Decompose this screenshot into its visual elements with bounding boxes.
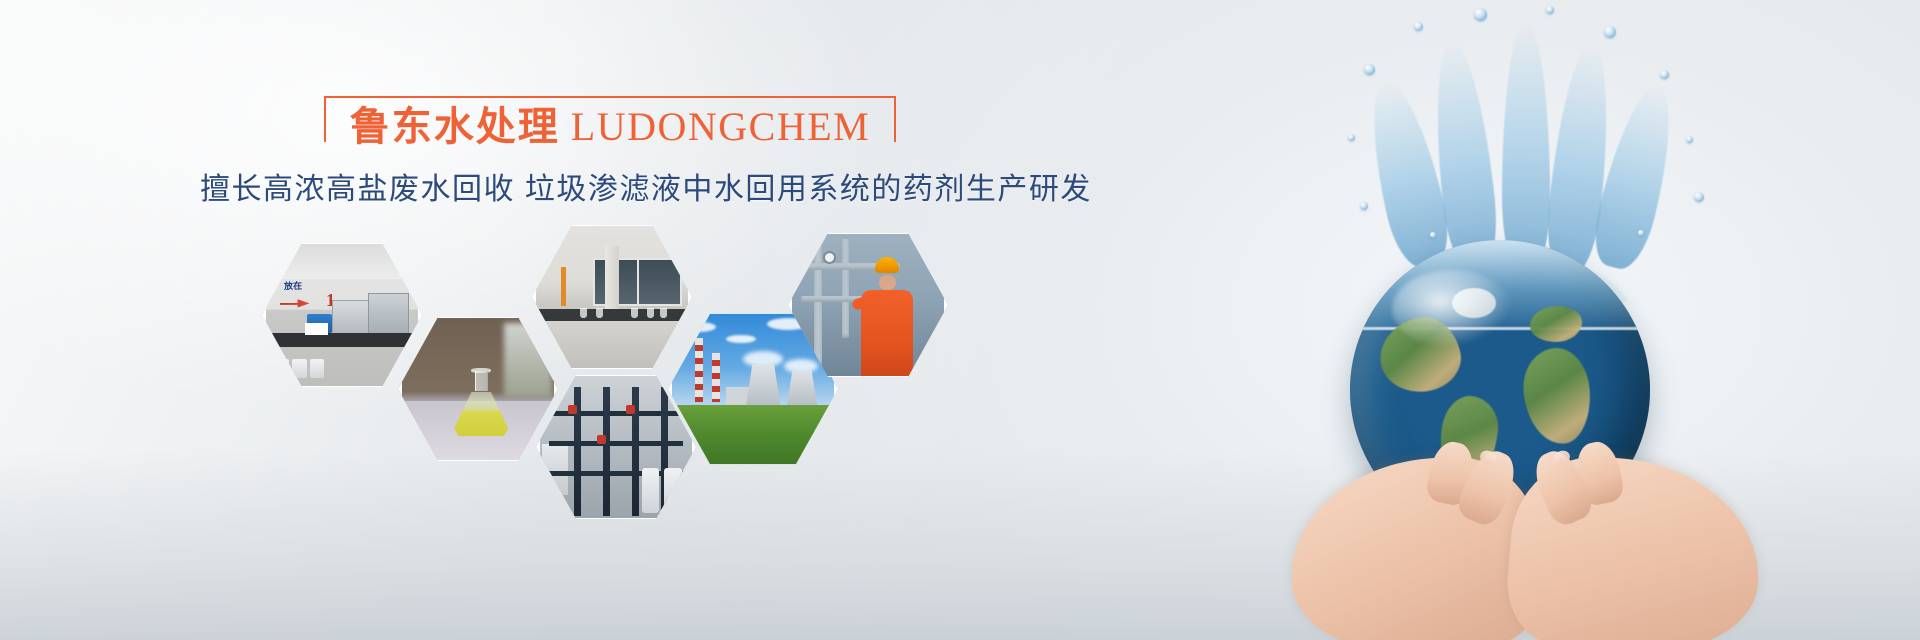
water-droplet (1348, 134, 1355, 141)
cloud (726, 335, 756, 343)
safety-helmet-icon (875, 257, 899, 273)
glassware (660, 308, 667, 318)
control-panel (542, 444, 568, 495)
glassware (580, 308, 587, 318)
hexagon-photo-lab-bench[interactable] (532, 222, 692, 372)
water-droplet (1686, 136, 1693, 143)
glassware (647, 308, 654, 318)
brand-title: 鲁东水处理 LUDONGCHEM (350, 102, 870, 152)
hands-water-globe-photo (1230, 0, 1920, 640)
banner-subtitle: 擅长高浓高盐废水回收 垃圾渗滤液中水回用系统的药剂生产研发 (200, 170, 1020, 211)
hex-bench-cabinet (532, 321, 692, 372)
water-droplet (1694, 192, 1704, 202)
globe-highlight (1392, 270, 1512, 348)
hero-banner: 鲁东水处理 LUDONGCHEM 擅长高浓高盐废水回收 垃圾渗滤液中水回用系统的… (0, 0, 1920, 640)
hex-lab-ceiling (262, 240, 422, 279)
hex-bench-stand (561, 267, 566, 306)
splash-sheet (1502, 22, 1550, 272)
hands-cupping-globe (1290, 360, 1760, 640)
glassware (596, 308, 603, 318)
flask-body-yellow-liquid (454, 392, 508, 436)
title-top-rule (342, 96, 878, 98)
valve-icon (626, 405, 635, 414)
chimney-stack (695, 338, 703, 401)
hexagon-photo-lab-slogan[interactable]: 放在 1 (262, 240, 422, 390)
hex-flask-window (504, 323, 552, 398)
worker-face (879, 275, 896, 290)
hex-lab-drum (275, 359, 289, 379)
water-droplet (1474, 8, 1487, 21)
glassware (631, 308, 638, 318)
plant-pipe (842, 239, 849, 338)
water-droplet (1638, 230, 1644, 236)
water-droplet (1360, 202, 1368, 210)
water-droplet (1604, 26, 1616, 38)
brand-title-frame: 鲁东水处理 LUDONGCHEM (324, 96, 896, 154)
hex-flask-scene (398, 314, 558, 464)
hex-bench-scene (532, 222, 692, 372)
hex-bench-top (532, 309, 692, 321)
water-droplet (1414, 22, 1423, 31)
hexagon-photo-cluster: 放在 1 (240, 222, 960, 522)
landmass-europe (1530, 306, 1582, 342)
headline-block: 鲁东水处理 LUDONGCHEM 擅长高浓高盐废水回收 垃圾渗滤液中水回用系统的… (200, 96, 1020, 211)
flask-neck (475, 371, 488, 391)
water-droplet (1430, 232, 1436, 238)
hex-lab-white-equipment (305, 323, 327, 335)
cloud (682, 322, 716, 332)
hex-lab-drum (310, 359, 324, 379)
hex-lab-wall-slogan-top: 放在 (284, 279, 302, 293)
plant-pipe (814, 239, 822, 365)
water-droplet (1364, 64, 1375, 75)
brand-title-en: LUDONGCHEM (571, 104, 870, 149)
water-droplet (1660, 70, 1669, 79)
arrow-icon (280, 297, 310, 308)
green-field (668, 405, 838, 468)
water-droplet (1546, 6, 1554, 14)
hex-lab-bench (268, 333, 415, 347)
membrane-vessel (642, 468, 660, 513)
membrane-vessel (664, 468, 682, 513)
pipe-column (603, 387, 610, 516)
valve-icon (597, 435, 606, 444)
hexagon-photo-flask[interactable] (398, 314, 558, 464)
chimney-stack (712, 353, 720, 402)
hex-lab-drum (292, 359, 306, 379)
brand-title-cn: 鲁东水处理 (350, 104, 560, 149)
hex-lab-scene: 放在 1 (262, 240, 422, 390)
valve-icon (568, 405, 577, 414)
